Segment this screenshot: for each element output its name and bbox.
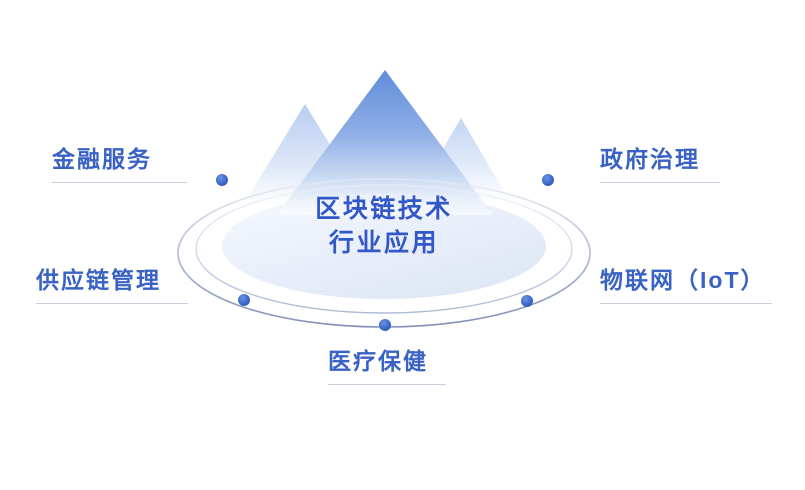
label-finance-text: 金融服务 (52, 148, 187, 171)
node-dot-healthcare[interactable] (379, 319, 391, 331)
label-iot[interactable]: 物联网（IoT） (600, 269, 772, 304)
node-dot-supplychain[interactable] (238, 294, 250, 306)
label-iot-text: 物联网（IoT） (600, 269, 772, 292)
label-healthcare-text: 医疗保健 (328, 350, 446, 373)
node-dot-finance[interactable] (216, 174, 228, 186)
node-dot-government[interactable] (542, 174, 554, 186)
label-healthcare[interactable]: 医疗保健 (328, 350, 446, 385)
diagram-artwork: 区块链技术 行业应用 (0, 0, 805, 490)
label-government-underline (600, 182, 720, 183)
label-government-text: 政府治理 (600, 148, 720, 171)
label-healthcare-underline (328, 384, 446, 385)
label-finance-underline (52, 182, 187, 183)
center-title-line2: 行业应用 (328, 228, 439, 257)
node-dot-iot[interactable] (521, 295, 533, 307)
label-iot-underline (600, 303, 772, 304)
label-supply-chain-text: 供应链管理 (36, 269, 188, 292)
label-government[interactable]: 政府治理 (600, 148, 720, 183)
label-supply-chain[interactable]: 供应链管理 (36, 269, 188, 304)
label-finance[interactable]: 金融服务 (52, 148, 187, 183)
label-supply-chain-underline (36, 303, 188, 304)
center-title-line1: 区块链技术 (315, 194, 453, 223)
diagram-canvas: 区块链技术 行业应用 金融服务 供应链管理 政府治理 物联网（IoT） 医疗保健 (0, 0, 805, 490)
